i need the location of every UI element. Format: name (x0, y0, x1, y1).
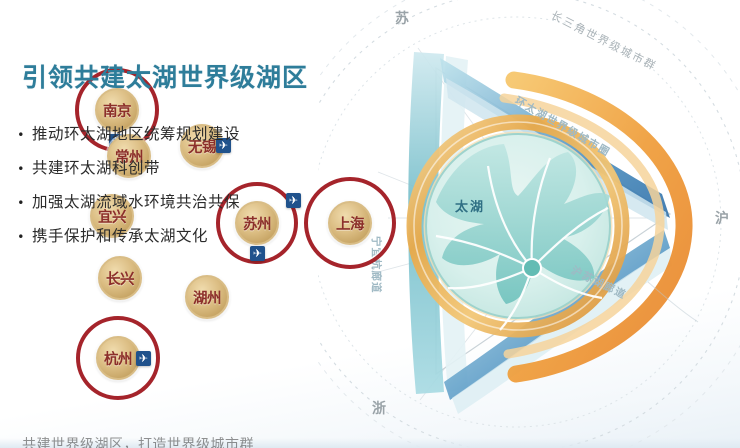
text-column: 引领共建太湖世界级湖区 • 推动环太湖地区统筹规划建设 • 共建环太湖科创带 •… (0, 0, 372, 448)
bullet-text: 推动环太湖地区统筹规划建设 (28, 126, 240, 144)
bullet-text: 加强太湖流域水环境共治共保 (28, 194, 240, 212)
slide-canvas: 南京 ✈ 常州 无锡 ✈ 苏州 ✈ 上海 ✈ 湖州 杭州 (0, 0, 740, 448)
taihu-region-diagram (318, 0, 740, 448)
bullet-dot-icon: • (14, 194, 28, 213)
footer-clipped-text: 共建世界级湖区，打造世界级城市群 (22, 434, 254, 448)
bullet-text: 共建环太湖科创带 (28, 160, 160, 178)
bullet-dot-icon: • (14, 126, 28, 145)
bullet-dot-icon: • (14, 228, 28, 247)
list-item: • 加强太湖流域水环境共治共保 (14, 194, 240, 213)
bullet-text: 携手保护和传承太湖文化 (28, 228, 208, 246)
list-item: • 携手保护和传承太湖文化 (14, 228, 240, 247)
list-item: • 推动环太湖地区统筹规划建设 (14, 126, 240, 145)
bullet-list: • 推动环太湖地区统筹规划建设 • 共建环太湖科创带 • 加强太湖流域水环境共治… (14, 126, 240, 262)
page-title: 引领共建太湖世界级湖区 (22, 58, 308, 94)
list-item: • 共建环太湖科创带 (14, 160, 240, 179)
bullet-dot-icon: • (14, 160, 28, 179)
